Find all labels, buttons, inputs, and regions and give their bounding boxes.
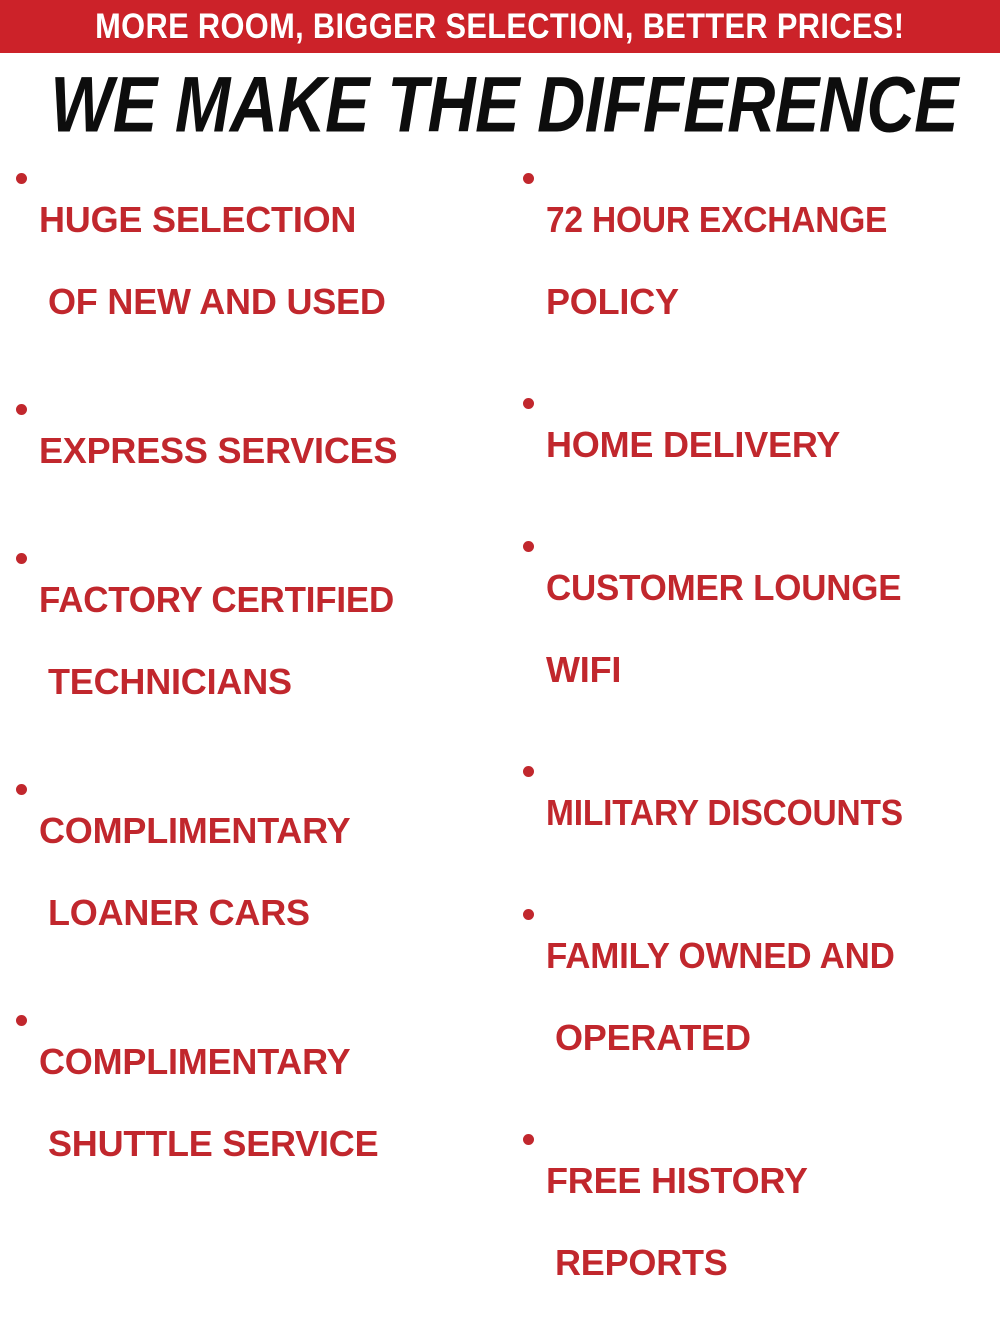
top-promo-banner: MORE ROOM, BIGGER SELECTION, BETTER PRIC… [0,0,1000,53]
list-item-text: FREE HISTORY REPORTS [546,1119,808,1324]
list-item-text: MILITARY DISCOUNTS [546,751,930,874]
list-item-line1: FREE HISTORY [546,1160,808,1201]
list-item-line1: 72 HOUR EXCHANGE [546,199,887,240]
list-item: CUSTOMER LOUNGE WIFI [523,526,1000,731]
list-item-line1: FACTORY CERTIFIED [39,579,394,620]
benefits-column-left: HUGE SELECTION OF NEW AND USED EXPRESS S… [0,158,505,1205]
promo-banner-text: MORE ROOM, BIGGER SELECTION, BETTER PRIC… [95,9,904,44]
list-item-text: 72 HOUR EXCHANGE POLICY [546,158,913,363]
list-item: 72 HOUR EXCHANGE POLICY [523,158,1000,363]
list-item: COMPLIMENTARY LOANER CARS [16,769,505,974]
bullet-dot-icon [16,553,27,564]
list-item-text: EXPRESS SERVICES [39,389,397,512]
list-item-line1: COMPLIMENTARY [39,1041,378,1082]
list-item-text: CUSTOMER LOUNGE WIFI [546,526,912,731]
bullet-dot-icon [523,398,534,409]
list-item-line1: COMPLIMENTARY [39,810,350,851]
list-item: HOME DELIVERY [523,383,1000,506]
list-item-text: COMPLIMENTARY SHUTTLE SERVICE [39,1000,378,1205]
list-item-line1: HUGE SELECTION [39,199,386,240]
list-item: HUGE SELECTION OF NEW AND USED [16,158,505,363]
bullet-dot-icon [523,1134,534,1145]
list-item-text: FAMILY OWNED AND OPERATED [546,894,906,1099]
list-item-line1: FAMILY OWNED AND [546,935,895,976]
list-item: FREE HISTORY REPORTS [523,1119,1000,1324]
list-item-text: FACTORY CERTIFIED TECHNICIANS [39,538,405,743]
bullet-dot-icon [523,909,534,920]
list-item-text: HUGE SELECTION OF NEW AND USED [39,158,386,363]
list-item-line2: REPORTS [546,1242,808,1283]
benefits-columns: HUGE SELECTION OF NEW AND USED EXPRESS S… [0,158,1000,678]
list-item-line2: OF NEW AND USED [39,281,386,322]
list-item: MILITARY DISCOUNTS [523,751,1000,874]
list-item-line1: HOME DELIVERY [546,424,840,465]
benefits-column-right: 72 HOUR EXCHANGE POLICY HOME DELIVERY CU… [505,158,1000,1324]
list-item: COMPLIMENTARY SHUTTLE SERVICE [16,1000,505,1205]
list-item-line1: MILITARY DISCOUNTS [546,792,903,833]
list-item: FACTORY CERTIFIED TECHNICIANS [16,538,505,743]
bullet-dot-icon [16,784,27,795]
list-item-line2: TECHNICIANS [39,661,405,702]
bullet-dot-icon [16,404,27,415]
bullet-dot-icon [523,766,534,777]
list-item-line2: POLICY [546,281,913,322]
headline-text: WE MAKE THE DIFFERENCE [50,66,958,144]
advertisement-banner: MORE ROOM, BIGGER SELECTION, BETTER PRIC… [0,0,1000,694]
list-item-line1: CUSTOMER LOUNGE [546,567,901,608]
bullet-dot-icon [523,541,534,552]
bullet-dot-icon [523,173,534,184]
list-item-text: COMPLIMENTARY LOANER CARS [39,769,350,974]
bullet-dot-icon [16,173,27,184]
list-item-line2: WIFI [546,649,912,690]
list-item-line2: SHUTTLE SERVICE [39,1123,378,1164]
list-item: FAMILY OWNED AND OPERATED [523,894,1000,1099]
list-item: EXPRESS SERVICES [16,389,505,512]
list-item-line2: OPERATED [546,1017,906,1058]
list-item-line1: EXPRESS SERVICES [39,430,397,471]
list-item-line2: LOANER CARS [39,892,350,933]
bullet-dot-icon [16,1015,27,1026]
headline: WE MAKE THE DIFFERENCE [0,66,1000,140]
list-item-text: HOME DELIVERY [546,383,840,506]
